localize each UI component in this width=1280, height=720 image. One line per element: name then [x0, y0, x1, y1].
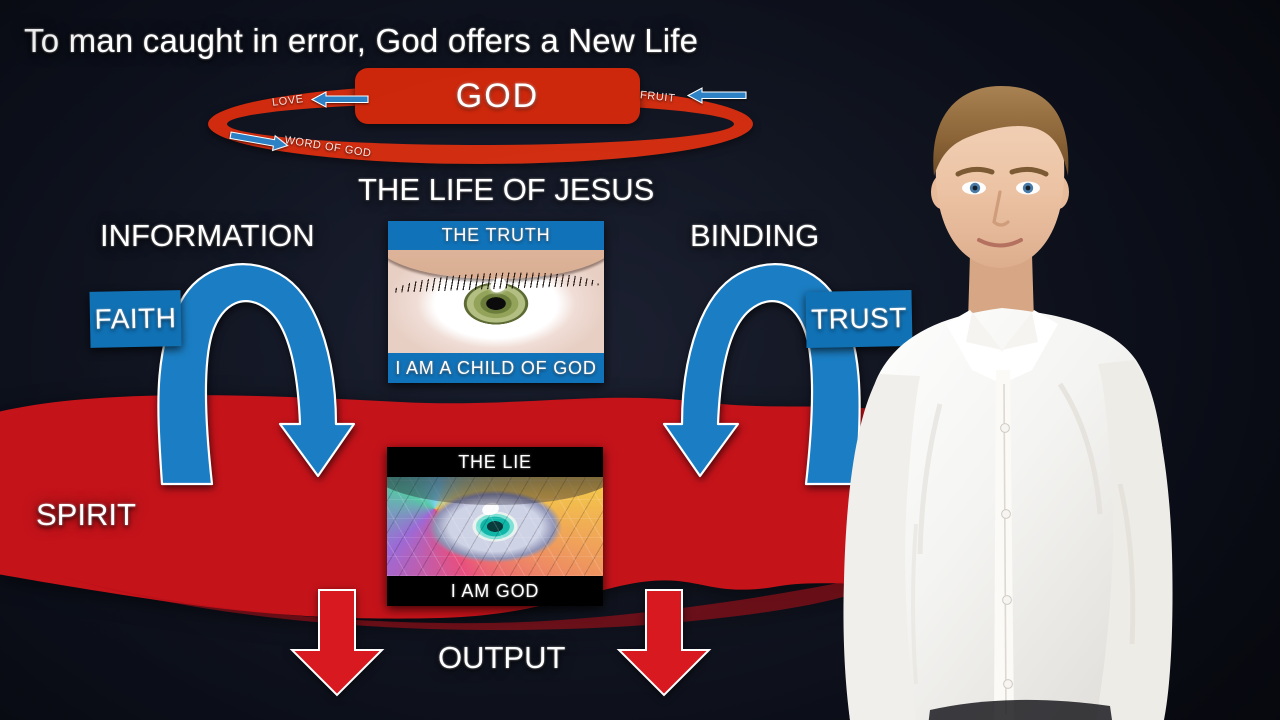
card-the-lie[interactable]: THE LIE I AM GOD: [387, 447, 603, 606]
card-the-truth[interactable]: THE TRUTH I AM A CHILD OF GOD: [388, 221, 604, 383]
card-lie-header: THE LIE: [387, 447, 603, 477]
ring-arrow-fruit-icon: [686, 87, 748, 105]
god-ring: GOD LOVE FRUIT WORD OF GOD: [200, 62, 760, 172]
page-title: To man caught in error, God offers a New…: [24, 22, 698, 60]
god-label: GOD: [456, 77, 539, 116]
section-title-spirit: SPIRIT: [36, 497, 136, 533]
card-truth-footer: I AM A CHILD OF GOD: [388, 353, 604, 383]
information-flow-arrow-icon: [140, 248, 390, 488]
label-faith[interactable]: FAITH: [89, 290, 181, 348]
output-arrow-right-icon: [614, 588, 714, 698]
slide-canvas: To man caught in error, God offers a New…: [0, 0, 1280, 720]
eye-glint: [488, 277, 507, 294]
card-truth-header: THE TRUTH: [388, 221, 604, 250]
card-lie-footer: I AM GOD: [387, 576, 603, 606]
polygonal-eye-image: [387, 477, 603, 576]
god-box: GOD: [355, 68, 640, 124]
output-arrow-left-icon: [287, 588, 387, 698]
presenter-photo: [820, 84, 1280, 720]
green-eye-image: [388, 250, 604, 353]
eye-glint: [481, 501, 500, 517]
label-faith-text: FAITH: [94, 302, 176, 336]
section-title-life-of-jesus: THE LIFE OF JESUS: [358, 172, 654, 208]
ring-arrow-love-icon: [310, 91, 370, 109]
